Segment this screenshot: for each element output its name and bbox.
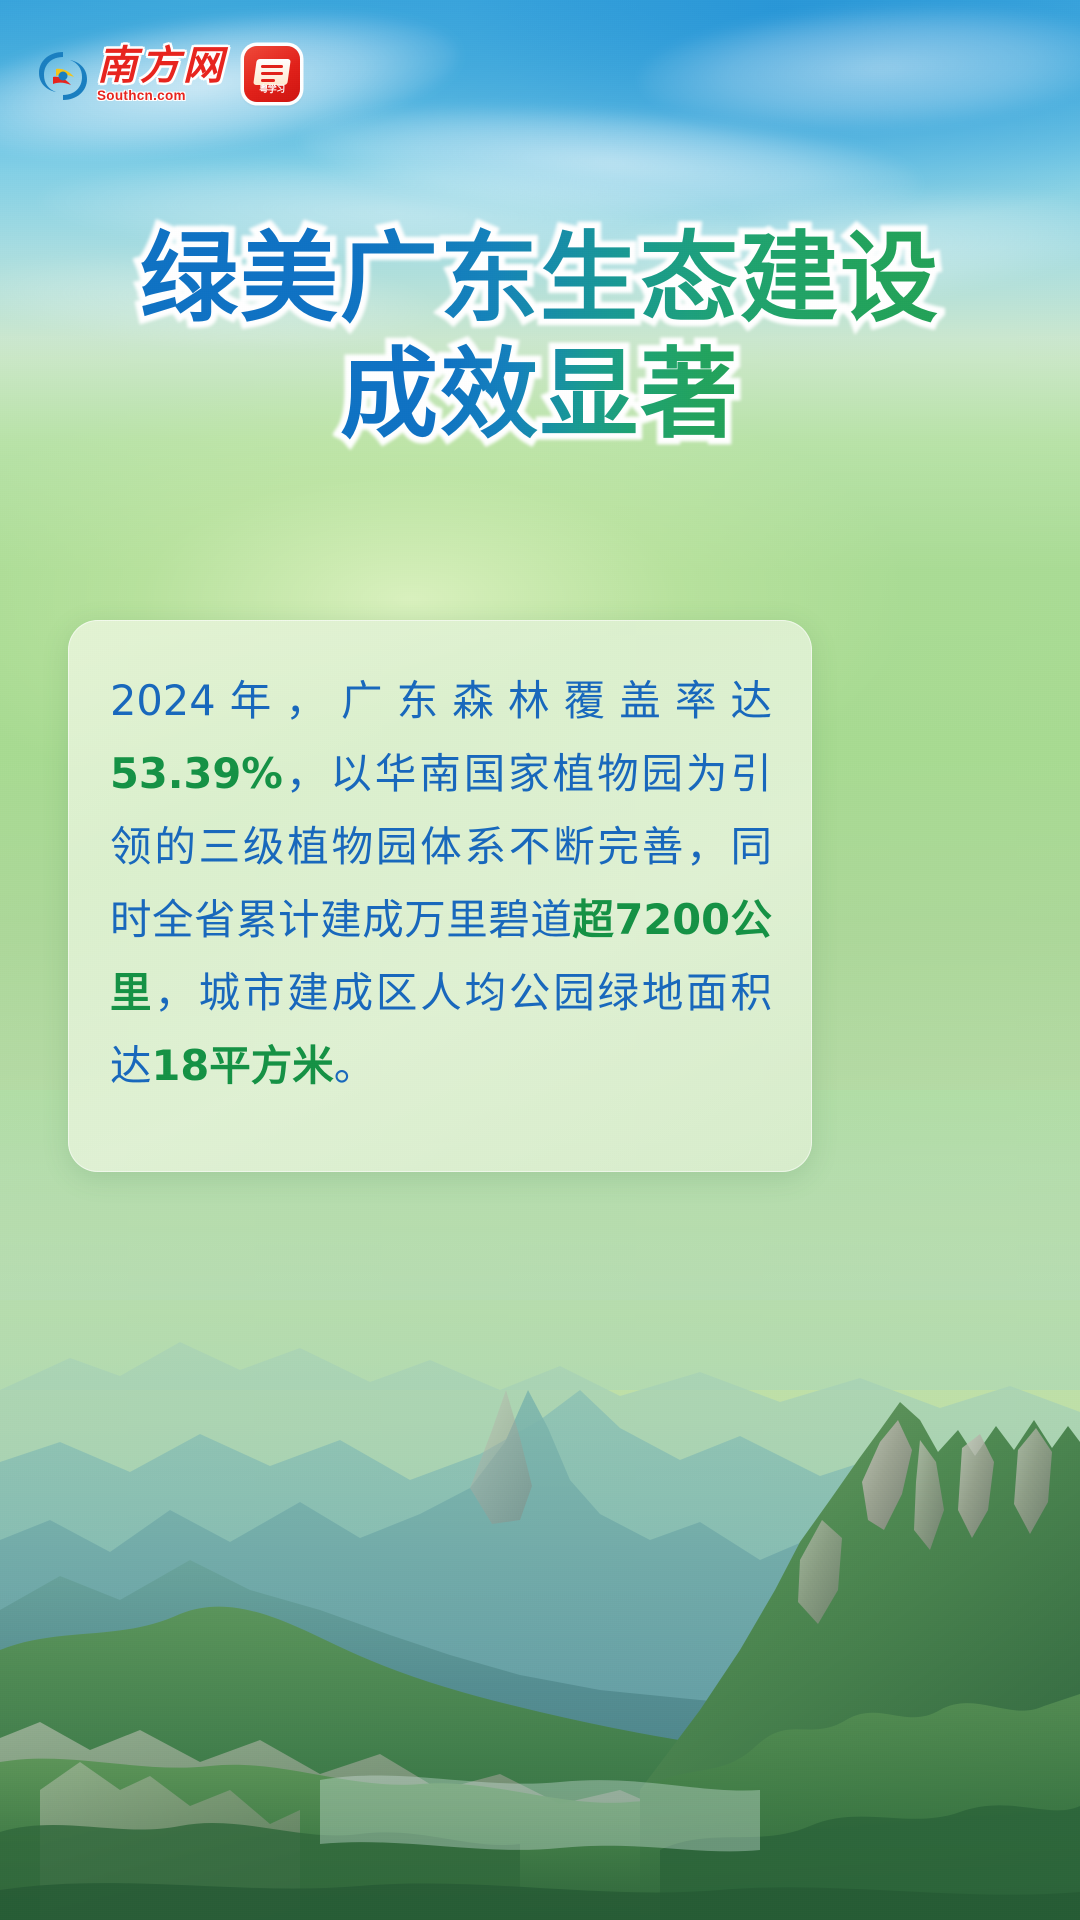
title-line-1-text: 绿美广东生态建设 [140,222,940,336]
poster-title: 绿美广东生态建设 绿美广东生态建设 成效显著 成效显著 [0,222,1080,453]
title-line-2: 成效显著 成效显著 [0,338,1080,454]
title-line-2-text: 成效显著 [340,338,740,452]
info-card: 2024年，广东森林覆盖率达53.39%，以华南国家植物园为引领的三级植物园体系… [68,620,812,1172]
yuexuexi-label: 粤学习 [252,82,292,95]
card-paragraph: 2024年，广东森林覆盖率达53.39%，以华南国家植物园为引领的三级植物园体系… [110,664,772,1102]
title-line-1: 绿美广东生态建设 绿美广东生态建设 [0,222,1080,338]
mountain-scenery [0,1090,1080,1920]
southcn-cn-name: 南方网 [97,46,226,86]
logo-yuexuexi[interactable]: 粤学习 [244,46,300,102]
card-highlight-text: 18平方米 [152,1041,334,1090]
logo-southcn[interactable]: 南方网 Southcn.com [36,46,226,103]
poster-root: 南方网 Southcn.com 粤学习 绿美广东生态建设 绿美广东生态建设 成效… [0,0,1080,1920]
book-icon: 粤学习 [252,54,292,94]
card-highlight-text: 53.39% [110,749,283,798]
southcn-swirl-icon [36,49,90,103]
card-body-text: 2024年，广东森林覆盖率达 [110,676,772,725]
southcn-en-name: Southcn.com [97,89,186,103]
mountain-illustration [0,1090,1080,1920]
card-body-text: 。 [334,1041,376,1090]
logo-bar: 南方网 Southcn.com 粤学习 [36,46,300,103]
